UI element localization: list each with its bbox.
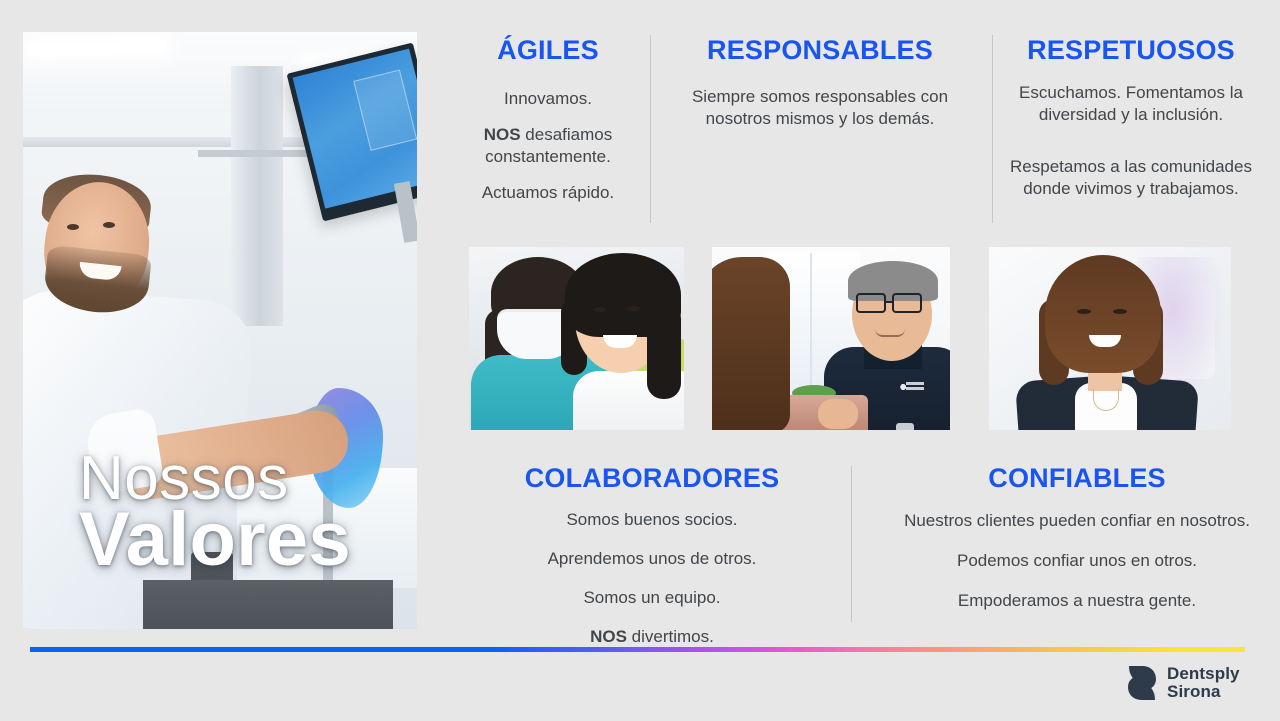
photo-professional-woman (989, 247, 1231, 430)
brand-name-line-2: Sirona (1167, 683, 1240, 701)
woman-eye-right (1113, 309, 1127, 314)
value-block-colaboradores: COLABORADORES Somos buenos socios. Apren… (474, 464, 830, 647)
value-line-colaboradores-3: Somos un equipo. (474, 587, 830, 609)
value-line-confiables-2: Podemos confiar unos en otros. (878, 550, 1276, 572)
eyeglasses-left-lens-icon (856, 293, 886, 313)
value-line-colaboradores-2: Aprendemos unos de otros. (474, 548, 830, 570)
value-heading-agiles: ÁGILES (437, 36, 659, 64)
wristwatch-icon (896, 423, 914, 430)
dentsply-sirona-mark-icon (1127, 664, 1157, 702)
value-line-confiables-3: Empoderamos a nuestra gente. (878, 590, 1276, 612)
brand-name: Dentsply Sirona (1167, 665, 1240, 700)
lab-column (231, 66, 283, 326)
value-block-agiles: ÁGILES Innovamos. NOS desafiamos constan… (437, 36, 659, 203)
polo-brand-logo-icon (898, 381, 924, 393)
value-heading-confiables: CONFIABLES (878, 464, 1276, 492)
slide-our-values: Nossos Valores ÁGILES Innovamos. NOS des… (0, 0, 1280, 721)
value-block-confiables: CONFIABLES Nuestros clientes pueden conf… (878, 464, 1276, 612)
patient-eye-right (627, 306, 640, 311)
clinician-hand (818, 399, 858, 429)
value-heading-respetuosos: RESPETUOSOS (985, 36, 1277, 64)
woman-hair (1045, 255, 1161, 373)
eyeglasses-right-lens-icon (892, 293, 922, 313)
machine-base (143, 580, 393, 629)
eyeglasses-bridge (886, 301, 892, 303)
value-block-respetuosos: RESPETUOSOS Escuchamos. Fomentamos la di… (985, 36, 1277, 199)
value-line-agiles-3: Actuamos rápido. (437, 182, 659, 204)
value-line-respetuosos-2: Respetamos a las comunidades donde vivim… (985, 156, 1277, 200)
value-heading-responsables: RESPONSABLES (665, 36, 975, 64)
technician-eye-left (67, 224, 79, 230)
value-line-agiles-1: Innovamos. (437, 88, 659, 110)
value-emphasis-nos: NOS (484, 125, 521, 144)
patient-hair-right (647, 303, 681, 399)
value-line-colaboradores-4-rest: divertimos. (627, 627, 714, 646)
value-line-respetuosos-1: Escuchamos. Fomentamos la diversidad y l… (985, 82, 1277, 126)
value-heading-colaboradores: COLABORADORES (474, 464, 830, 492)
value-line-confiables-1: Nuestros clientes pueden confiar en noso… (878, 510, 1276, 532)
value-emphasis-nos-colaboradores: NOS (590, 627, 627, 646)
page-title-line-2: Valores (79, 504, 351, 577)
brand-gradient-bar (30, 647, 1245, 652)
value-line-colaboradores-1: Somos buenos socios. (474, 509, 830, 531)
page-title: Nossos Valores (79, 449, 351, 577)
brand-logo: Dentsply Sirona (1127, 664, 1240, 702)
value-line-colaboradores-4: NOS divertimos. (474, 626, 830, 648)
window-frame (810, 253, 812, 403)
value-line-agiles-2: NOS desafiamos constantemente. (437, 124, 659, 168)
brand-name-line-1: Dentsply (1167, 665, 1240, 683)
woman-eye-left (1077, 309, 1091, 314)
technician-eye-right (103, 222, 115, 228)
photo-clinician-with-model (712, 247, 950, 430)
photo-dental-assistant-and-patient (469, 247, 684, 430)
divider-bottom-1 (851, 466, 852, 622)
value-line-responsables-1: Siempre somos responsables con nosotros … (665, 86, 975, 130)
hero-image: Nossos Valores (23, 32, 417, 629)
patient-eye-left (593, 307, 606, 312)
colleague-hair (712, 257, 790, 430)
clinician-smile (875, 329, 905, 337)
value-block-responsables: RESPONSABLES Siempre somos responsables … (665, 36, 975, 130)
